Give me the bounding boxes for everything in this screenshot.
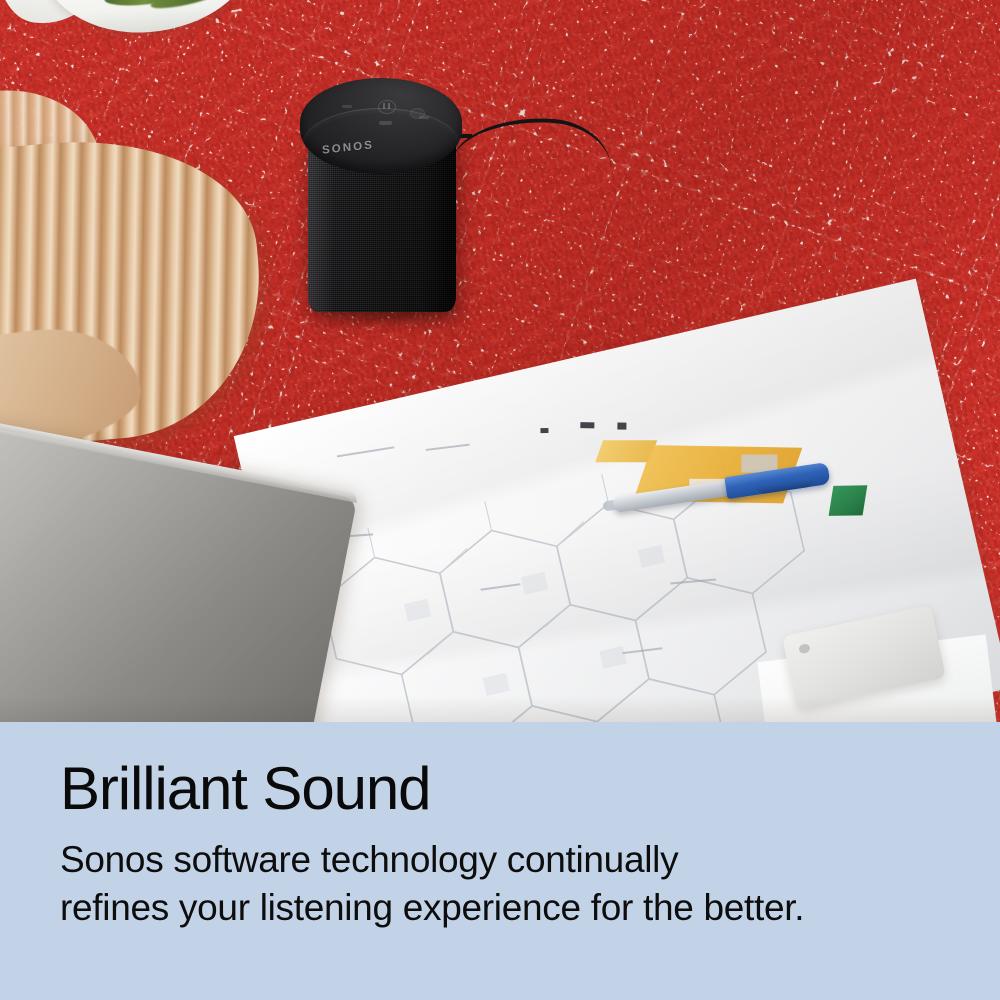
caption-heading: Brilliant Sound (60, 756, 942, 822)
green-sticker (829, 485, 868, 516)
caption-body-line-1: Sonos software technology continually (60, 836, 942, 884)
phone-camera-icon (798, 643, 811, 654)
drawing-dark-mark (580, 422, 594, 428)
caption-body-line-2: refines your listening experience for th… (60, 884, 942, 932)
caption-body: Sonos software technology continually re… (60, 836, 942, 932)
lifestyle-photo: SONOS (0, 0, 1000, 722)
drawing-dark-mark (540, 428, 548, 433)
product-lifestyle-card: SONOS (0, 0, 1000, 1000)
sonos-one-speaker: SONOS (300, 78, 462, 318)
photo-bottom-fade (0, 696, 1000, 722)
drawing-dark-mark (617, 422, 626, 429)
caption-panel: Brilliant Sound Sonos software technolog… (0, 722, 1000, 1000)
volume-down-button[interactable] (342, 105, 352, 108)
